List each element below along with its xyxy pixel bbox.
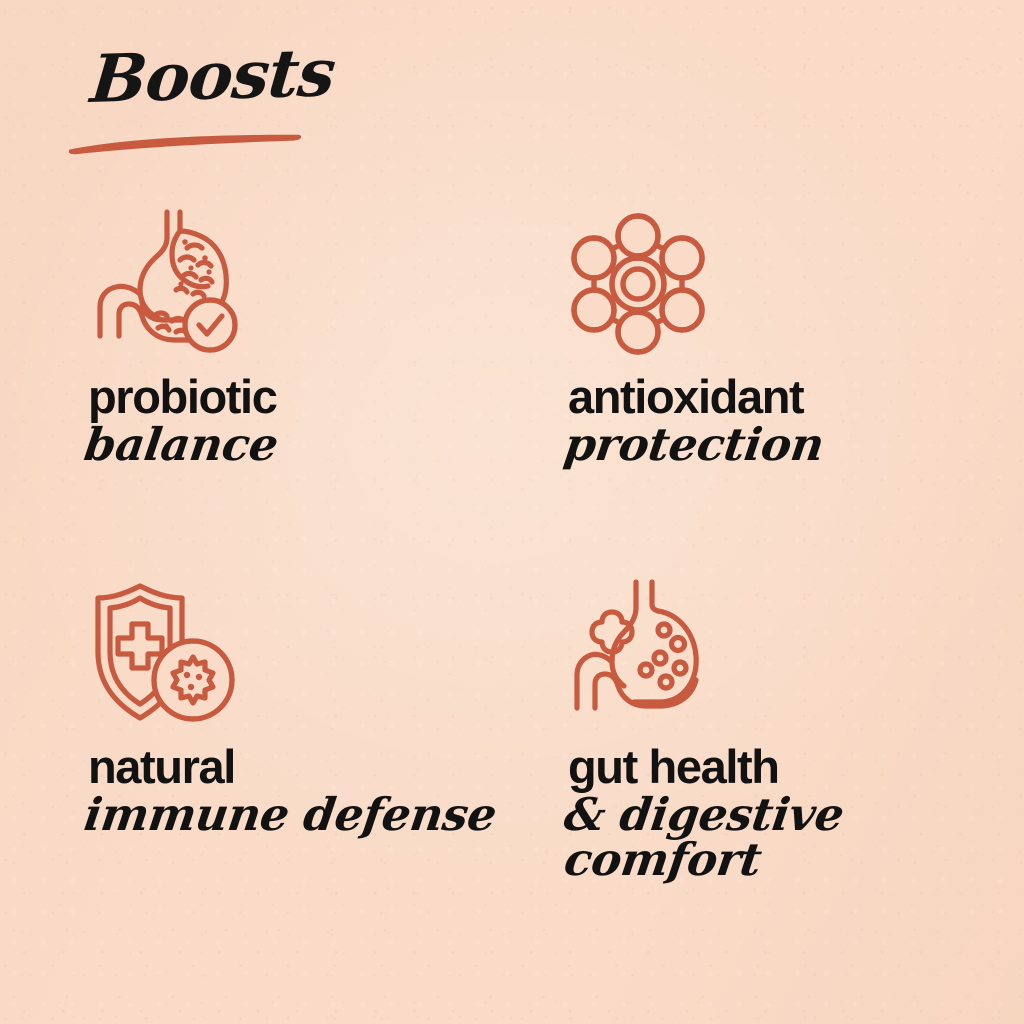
brush-underline-icon (66, 122, 306, 156)
boosts-benefits-poster: Boosts (0, 0, 1024, 1024)
benefit-line-secondary: & digestive (561, 792, 1024, 839)
stomach-cross-bubbles-icon (568, 572, 1024, 728)
benefit-line-primary: probiotic (88, 374, 558, 420)
benefit-card-gut-health-comfort: gut health & digestive comfort (568, 572, 1024, 884)
benefit-labels: probiotic balance (88, 374, 558, 469)
antioxidant-molecule-icon (568, 202, 1024, 358)
benefit-labels: natural immune defense (88, 744, 558, 839)
benefit-line-primary: natural (88, 744, 558, 790)
shield-cross-virus-icon (88, 572, 558, 728)
benefit-line-secondary: immune defense (81, 792, 558, 839)
benefit-line-tertiary: comfort (561, 837, 1024, 884)
benefit-card-probiotic-balance: probiotic balance (88, 202, 558, 469)
benefit-card-antioxidant-protection: antioxidant protection (568, 202, 1024, 469)
benefit-line-primary: antioxidant (568, 374, 1024, 420)
benefits-grid: probiotic balance (0, 196, 1024, 996)
benefit-labels: antioxidant protection (568, 374, 1024, 469)
benefit-line-secondary: protection (561, 422, 1024, 469)
benefit-card-natural-immune-defense: natural immune defense (88, 572, 558, 839)
stomach-probiotics-check-icon (88, 202, 558, 358)
benefit-line-primary: gut health (568, 744, 1024, 790)
page-title: Boosts (88, 34, 516, 112)
benefit-line-secondary: balance (81, 422, 558, 469)
poster-header: Boosts (88, 46, 508, 166)
benefit-labels: gut health & digestive comfort (568, 744, 1024, 884)
